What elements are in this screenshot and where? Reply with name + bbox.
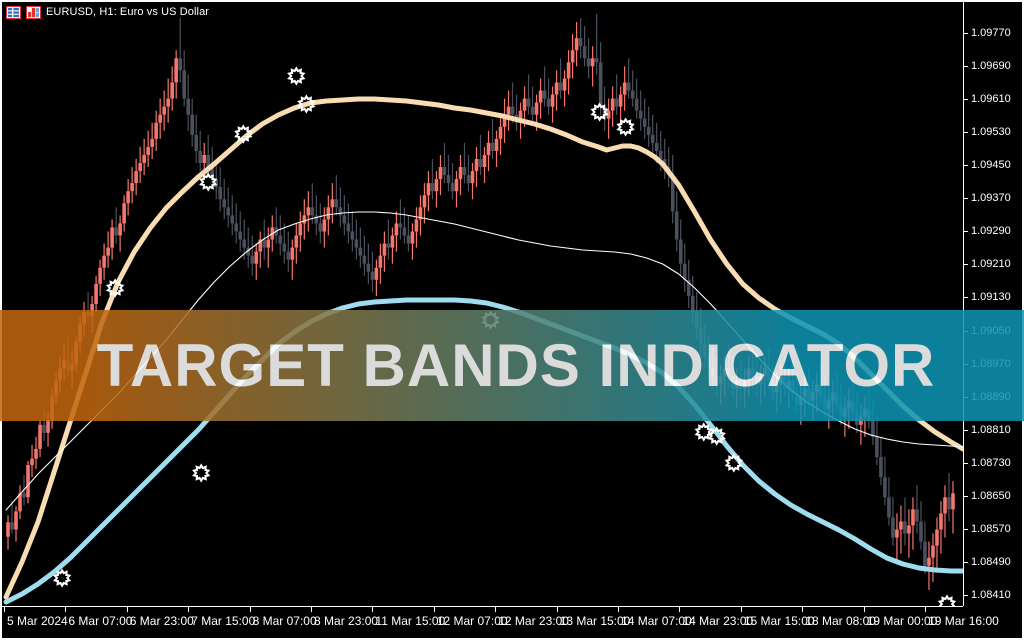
candle-body (907, 525, 911, 533)
candle-body (299, 223, 303, 235)
candle-body (451, 183, 455, 191)
candle-body (935, 530, 939, 546)
candle-body (226, 207, 230, 215)
time-tick (864, 606, 865, 612)
bar-chart-icon[interactable] (26, 6, 41, 19)
candle-body (383, 244, 387, 256)
candle-body (615, 99, 619, 107)
candle-body (471, 171, 475, 183)
time-tick-label: 11 Mar 15:00 (375, 615, 445, 628)
candle-body (639, 111, 643, 119)
candle-body (202, 155, 206, 163)
price-tick-label: 1.08410 (971, 590, 1011, 601)
price-tick-label: 1.09770 (971, 28, 1011, 39)
candle-body (899, 521, 903, 529)
candle-body (599, 62, 603, 106)
candle-body (875, 437, 879, 457)
candle-body (379, 256, 383, 268)
candle-body (162, 107, 166, 115)
candle-body (679, 240, 683, 264)
candle-body (254, 252, 258, 264)
candle-body (911, 509, 915, 525)
candle-body (511, 107, 515, 115)
price-tick (963, 496, 968, 497)
candle-body (527, 99, 531, 107)
candle-body (883, 477, 887, 497)
candle-body (683, 264, 687, 280)
price-tick (963, 132, 968, 133)
time-tick (557, 606, 558, 612)
price-tick (963, 66, 968, 67)
candle-body (423, 195, 427, 207)
price-tick (963, 99, 968, 100)
candle-body (138, 163, 142, 171)
price-tick-label: 1.09530 (971, 127, 1011, 138)
candle-body (230, 215, 234, 223)
candle-body (919, 521, 923, 541)
candle-body (887, 497, 891, 517)
promo-banner-title: TARGET BANDS INDICATOR (0, 336, 1024, 396)
candle-body (675, 211, 679, 239)
candle-body (375, 268, 379, 280)
candle-body (631, 91, 635, 99)
candle-body (46, 421, 50, 433)
candle-body (463, 167, 467, 175)
symbol-label: EURUSD, H1: Euro vs US Dollar (46, 6, 209, 18)
candle-body (879, 457, 883, 477)
candle-body (403, 227, 407, 235)
candle-body (895, 530, 899, 538)
time-tick (4, 606, 5, 612)
price-tick-label: 1.08570 (971, 524, 1011, 535)
candle-body (495, 139, 499, 151)
candle-body (98, 268, 102, 284)
time-tick-label: 12 Mar 07:00 (437, 615, 508, 628)
candle-body (611, 99, 615, 111)
candle-body (166, 99, 170, 107)
candle-body (178, 58, 182, 70)
candle-body (6, 522, 10, 536)
candle-body (238, 231, 242, 239)
time-tick-label: 14 Mar 23:00 (682, 615, 753, 628)
candle-body (327, 207, 331, 219)
candle-body (262, 240, 266, 248)
candle-body (659, 151, 663, 159)
candle-body (38, 425, 42, 449)
candle-body (30, 459, 34, 465)
time-tick-label: 12 Mar 23:00 (498, 615, 569, 628)
candle-body (903, 521, 907, 533)
candle-body (242, 240, 246, 248)
candle-body (266, 240, 270, 248)
candle-body (655, 143, 659, 151)
candle-body (250, 256, 254, 264)
price-tick (963, 529, 968, 530)
candle-body (158, 115, 162, 123)
candle-body (391, 236, 395, 248)
time-axis[interactable]: 5 Mar 20246 Mar 07:006 Mar 23:007 Mar 15… (2, 606, 1022, 638)
candle-body (282, 244, 286, 252)
candle-body (94, 284, 98, 304)
time-tick (495, 606, 496, 612)
candle-body (355, 240, 359, 248)
price-tick (963, 165, 968, 166)
candle-body (286, 252, 290, 260)
promo-banner: TARGET BANDS INDICATOR (0, 310, 1024, 421)
candle-body (194, 135, 198, 151)
time-tick (434, 606, 435, 612)
candle-body (571, 50, 575, 62)
candle-body (118, 223, 122, 235)
candle-body (186, 99, 190, 115)
price-axis[interactable]: 1.097701.096901.096101.095301.094501.093… (963, 2, 1022, 606)
candle-body (651, 135, 655, 143)
candle-body (367, 264, 371, 272)
price-tick-label: 1.08490 (971, 557, 1011, 568)
candle-body (170, 82, 174, 98)
candle-body (407, 236, 411, 244)
candle-body (142, 155, 146, 163)
time-tick (925, 606, 926, 612)
candle-body (319, 223, 323, 231)
time-axis-line (2, 606, 963, 607)
price-tick (963, 430, 968, 431)
candle-body (871, 421, 875, 437)
candle-body (278, 236, 282, 244)
candle-body (479, 159, 483, 167)
candle-body (539, 91, 543, 103)
chart-plot-area[interactable] (2, 2, 963, 606)
time-tick (679, 606, 680, 612)
candle-body (487, 143, 491, 155)
time-tick (618, 606, 619, 612)
candle-body (939, 513, 943, 529)
candle-body (927, 558, 931, 566)
candle-body (567, 62, 571, 78)
price-tick-label: 1.09210 (971, 259, 1011, 270)
time-tick-label: 19 Mar 16:00 (928, 615, 999, 628)
price-axis-line (963, 2, 964, 606)
candle-body (122, 203, 126, 223)
candle-body (943, 497, 947, 513)
price-tick-label: 1.09130 (971, 292, 1011, 303)
time-tick-label: 8 Mar 07:00 (253, 615, 317, 628)
candle-body (575, 38, 579, 50)
candle-body (491, 143, 495, 151)
candle-body (182, 70, 186, 98)
candle-body (415, 219, 419, 231)
time-tick-label: 6 Mar 07:00 (68, 615, 132, 628)
candle-body (14, 511, 18, 529)
price-tick-label: 1.09610 (971, 94, 1011, 105)
price-tick (963, 297, 968, 298)
candle-body (635, 99, 639, 111)
candle-body (447, 175, 451, 183)
time-tick (127, 606, 128, 612)
candle-body (363, 256, 367, 264)
time-tick (250, 606, 251, 612)
price-tick (963, 198, 968, 199)
candle-body (234, 223, 238, 231)
candle-body (455, 179, 459, 191)
candle-body (915, 509, 919, 521)
candle-body (531, 107, 535, 115)
candle-body (647, 127, 651, 135)
time-tick-label: 15 Mar 15:00 (744, 615, 815, 628)
candle-body (431, 183, 435, 191)
candle-body (371, 272, 375, 280)
time-tick (65, 606, 66, 612)
candle-body (291, 248, 295, 260)
candle-body (130, 183, 134, 191)
candle-body (198, 151, 202, 163)
time-tick-label: 8 Mar 23:00 (314, 615, 378, 628)
candle-body (315, 215, 319, 223)
candle-body (190, 115, 194, 135)
candle-body (443, 167, 447, 175)
time-tick-label: 7 Mar 15:00 (191, 615, 255, 628)
candle-body (595, 58, 599, 62)
candle-body (126, 191, 130, 203)
candle-body (643, 119, 647, 127)
chart-window: 1.097701.096901.096101.095301.094501.093… (0, 0, 1024, 640)
price-tick (963, 463, 968, 464)
price-tick-label: 1.09690 (971, 61, 1011, 72)
price-tick-label: 1.08810 (971, 425, 1011, 436)
candle-body (311, 207, 315, 215)
candle-body (351, 231, 355, 239)
time-tick (372, 606, 373, 612)
candle-body (499, 127, 503, 139)
candle-body (619, 95, 623, 107)
price-tick (963, 231, 968, 232)
candle-body (427, 183, 431, 195)
time-tick-label: 5 Mar 2024 (7, 615, 68, 628)
candle-body (951, 493, 955, 509)
price-tick-label: 1.08650 (971, 491, 1011, 502)
candle-body (475, 159, 479, 171)
price-tick-label: 1.08730 (971, 458, 1011, 469)
candle-body (535, 103, 539, 115)
time-tick (311, 606, 312, 612)
price-tick-label: 1.09370 (971, 193, 1011, 204)
candle-body (507, 107, 511, 115)
candle-body (583, 46, 587, 58)
candle-body (587, 58, 591, 66)
candle-body (523, 99, 527, 111)
candle-body (395, 223, 399, 235)
candle-body (339, 207, 343, 215)
candle-body (307, 207, 311, 215)
candle-body (399, 223, 403, 227)
candle-body (295, 236, 299, 248)
candle-body (335, 199, 339, 207)
candle-body (439, 167, 443, 179)
candle-body (551, 95, 555, 107)
price-tick (963, 562, 968, 563)
time-tick (188, 606, 189, 612)
candle-body (923, 542, 927, 566)
candle-body (323, 219, 327, 231)
candle-body (134, 171, 138, 183)
candle-body (102, 256, 106, 268)
price-tick-label: 1.09450 (971, 160, 1011, 171)
candle-body (547, 99, 551, 107)
candle-body (467, 175, 471, 183)
time-tick-label: 6 Mar 23:00 (130, 615, 194, 628)
candle-body (110, 227, 114, 247)
candle-body (114, 227, 118, 235)
candle-body (150, 139, 154, 147)
candle-body (543, 91, 547, 99)
candle-body (623, 82, 627, 94)
price-chart-svg (2, 2, 963, 606)
candle-body (347, 223, 351, 231)
candle-body (483, 155, 487, 167)
price-tick-label: 1.09290 (971, 226, 1011, 237)
candle-body (591, 58, 595, 66)
candle-body (359, 248, 363, 256)
time-tick-label: 14 Mar 07:00 (621, 615, 692, 628)
candle-body (947, 497, 951, 509)
candle-body (627, 82, 631, 90)
candle-body (222, 199, 226, 207)
candle-body (891, 517, 895, 537)
candle-body (146, 147, 150, 155)
time-tick (741, 606, 742, 612)
candle-body (435, 179, 439, 191)
candle-body (579, 38, 583, 46)
candle-body (343, 215, 347, 223)
candle-body (559, 82, 563, 90)
candle-body (931, 546, 935, 558)
candle-body (387, 244, 391, 248)
candle-body (26, 465, 30, 497)
candle-body (10, 522, 14, 529)
time-tick-label: 19 Mar 00:00 (867, 615, 938, 628)
candle-body (555, 82, 559, 94)
candle-body (42, 425, 46, 433)
candle-body (218, 187, 222, 199)
candle-body (154, 123, 158, 139)
candle-body (303, 215, 307, 223)
time-tick-label: 18 Mar 08:00 (805, 615, 876, 628)
price-tick (963, 264, 968, 265)
candle-body (563, 78, 567, 90)
candle-body (411, 231, 415, 243)
time-tick (802, 606, 803, 612)
candle-body (22, 493, 26, 497)
candle-body (174, 58, 178, 82)
candle-body (331, 199, 335, 207)
time-tick-label: 13 Mar 15:00 (560, 615, 631, 628)
price-tick (963, 595, 968, 596)
symbol-bar: EURUSD, H1: Euro vs US Dollar (6, 4, 209, 20)
candle-body (106, 248, 110, 256)
list-view-icon[interactable] (6, 6, 21, 19)
price-tick (963, 33, 968, 34)
candle-body (34, 449, 38, 459)
candle-body (459, 167, 463, 179)
